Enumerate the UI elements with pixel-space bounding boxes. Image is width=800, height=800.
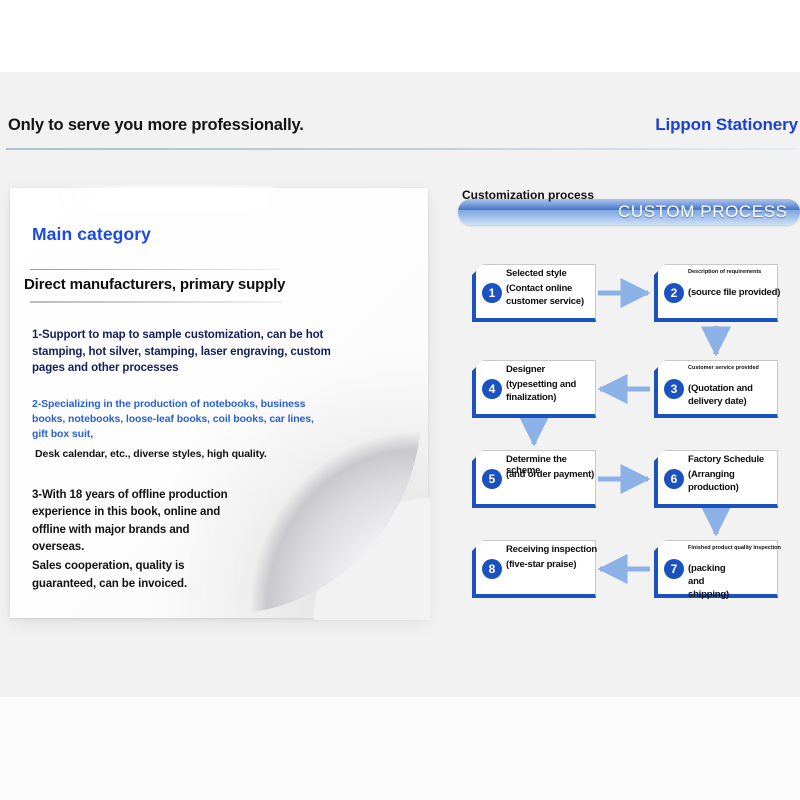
flow-step-5[interactable]: 5 Determine the scheme (and order paymen… <box>472 450 596 508</box>
divider-bottom <box>30 301 282 303</box>
step-subtitle-4: (typesetting and finalization) <box>506 379 604 405</box>
step-number-5: 5 <box>482 469 502 489</box>
step-number-7: 7 <box>664 559 684 579</box>
brand-name: Lippon Stationery <box>655 115 798 135</box>
flow-step-6[interactable]: 6 Factory Schedule (Arranging production… <box>654 450 778 508</box>
step-number-8: 8 <box>482 559 502 579</box>
flow-step-3[interactable]: 3 Customer service provided (Quotation a… <box>654 360 778 418</box>
step-number-4: 4 <box>482 379 502 399</box>
feature-paragraph-2: 2-Specializing in the production of note… <box>32 397 332 443</box>
step-number-1: 1 <box>482 283 502 303</box>
feature-paragraph-5: Sales cooperation, quality is guaranteed… <box>32 558 237 594</box>
custom-process-flowchart: 1 Selected style (Contact online custome… <box>458 250 800 630</box>
step-subtitle-3: (Quotation and delivery date) <box>688 383 786 409</box>
step-number-3: 3 <box>664 379 684 399</box>
step-title-6: Factory Schedule <box>688 455 782 466</box>
step-title-3: Customer service provided <box>688 365 782 372</box>
step-title-2: Description of requirements <box>688 269 782 276</box>
step-title-4: Designer <box>506 365 600 376</box>
feature-paragraph-3: Desk calendar, etc., diverse styles, hig… <box>35 447 335 462</box>
step-subtitle-7: (packing and shipping) <box>688 563 740 601</box>
step-number-2: 2 <box>664 283 684 303</box>
step-title-8: Receiving inspection <box>506 545 600 556</box>
step-title-1: Selected style <box>506 269 600 280</box>
feature-paragraph-4: 3-With 18 years of offline production ex… <box>32 487 237 556</box>
flow-step-1[interactable]: 1 Selected style (Contact online custome… <box>472 264 596 322</box>
banner-sheen-highlight <box>47 186 273 212</box>
step-subtitle-5: (and order payment) <box>506 469 604 482</box>
step-subtitle-8: (five-star praise) <box>506 559 604 572</box>
flow-step-8[interactable]: 8 Receiving inspection (five-star praise… <box>472 540 596 598</box>
customization-process-label: Customization process <box>462 186 612 205</box>
step-number-6: 6 <box>664 469 684 489</box>
flow-step-2[interactable]: 2 Description of requirements (source fi… <box>654 264 778 322</box>
flow-step-7[interactable]: 7 Finished product quality inspection (p… <box>654 540 778 598</box>
main-category-panel: Main category Direct manufacturers, prim… <box>10 188 428 618</box>
header-divider <box>6 148 796 150</box>
main-category-title: Main category <box>32 224 151 245</box>
step-subtitle-6: (Arranging production) <box>688 469 786 495</box>
feature-paragraph-1: 1-Support to map to sample customization… <box>32 327 337 377</box>
step-title-7: Finished product quality inspection <box>688 545 782 552</box>
flow-step-4[interactable]: 4 Designer (typesetting and finalization… <box>472 360 596 418</box>
banner-label: CUSTOM PROCESS <box>618 202 788 222</box>
step-subtitle-2: (source file provided) <box>688 287 786 300</box>
page-bottom-area <box>0 697 800 800</box>
product-detail-page: Only to serve you more professionally. L… <box>0 0 800 800</box>
header-tagline: Only to serve you more professionally. <box>8 116 304 135</box>
panel-headline: Direct manufacturers, primary supply <box>24 276 285 293</box>
step-subtitle-1: (Contact online customer service) <box>506 283 604 309</box>
divider-top <box>30 269 280 270</box>
